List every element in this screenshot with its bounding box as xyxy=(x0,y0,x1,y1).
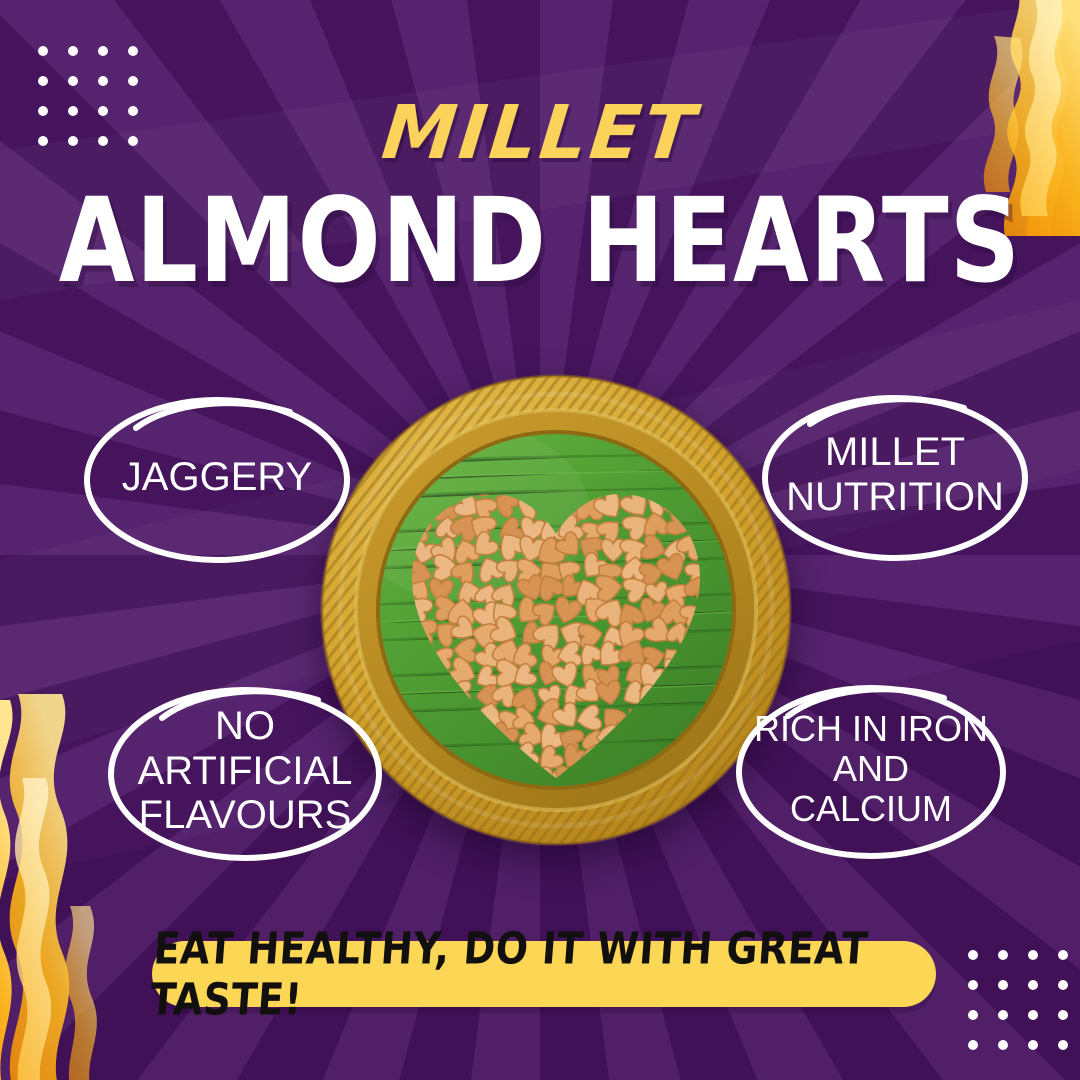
page-title: ALMOND HEARTS xyxy=(0,182,1080,301)
dot xyxy=(998,1010,1008,1020)
poster-canvas: MILLET ALMOND HEARTS xyxy=(0,0,1080,1080)
dot xyxy=(1058,950,1068,960)
dot xyxy=(998,950,1008,960)
hero-product-tray xyxy=(320,374,792,846)
feature-badge-label: RICH IN IRON AND CALCIUM xyxy=(740,709,1002,830)
feature-badge-rich-in-iron-and-calcium[interactable]: RICH IN IRON AND CALCIUM xyxy=(730,676,1012,862)
dot xyxy=(998,980,1008,990)
dot xyxy=(68,46,78,56)
feature-badge-label: JAGGERY xyxy=(108,455,326,500)
dot xyxy=(1028,1040,1038,1050)
title-block: MILLET ALMOND HEARTS xyxy=(0,96,1080,280)
dot xyxy=(1058,1010,1068,1020)
feature-badge-no-artificial-flavours[interactable]: NO ARTIFICIAL FLAVOURS xyxy=(102,678,388,864)
dot xyxy=(38,46,48,56)
dot xyxy=(98,46,108,56)
tagline-banner[interactable]: EAT HEALTHY, DO IT WITH GREAT TASTE! xyxy=(152,941,936,1007)
dot xyxy=(98,76,108,86)
feature-badge-millet-nutrition[interactable]: MILLET NUTRITION xyxy=(756,386,1034,564)
tagline-text: EAT HEALTHY, DO IT WITH GREAT TASTE! xyxy=(148,923,940,1025)
feature-badge-jaggery[interactable]: JAGGERY xyxy=(78,388,356,566)
dot xyxy=(1028,950,1038,960)
dot xyxy=(1028,1010,1038,1020)
dot xyxy=(68,76,78,86)
dot xyxy=(38,76,48,86)
dot xyxy=(968,950,978,960)
dot xyxy=(1058,1040,1068,1050)
feature-badge-label: MILLET NUTRITION xyxy=(772,430,1018,520)
dot xyxy=(998,1040,1008,1050)
dot xyxy=(1028,980,1038,990)
dot xyxy=(968,1010,978,1020)
dot xyxy=(968,1040,978,1050)
dot-grid-bottom-right xyxy=(968,950,1068,1050)
dot xyxy=(128,76,138,86)
dot xyxy=(1058,980,1068,990)
eyebrow-title: MILLET xyxy=(0,96,1080,170)
dot xyxy=(968,980,978,990)
feature-badge-label: NO ARTIFICIAL FLAVOURS xyxy=(124,704,367,838)
dot xyxy=(128,46,138,56)
